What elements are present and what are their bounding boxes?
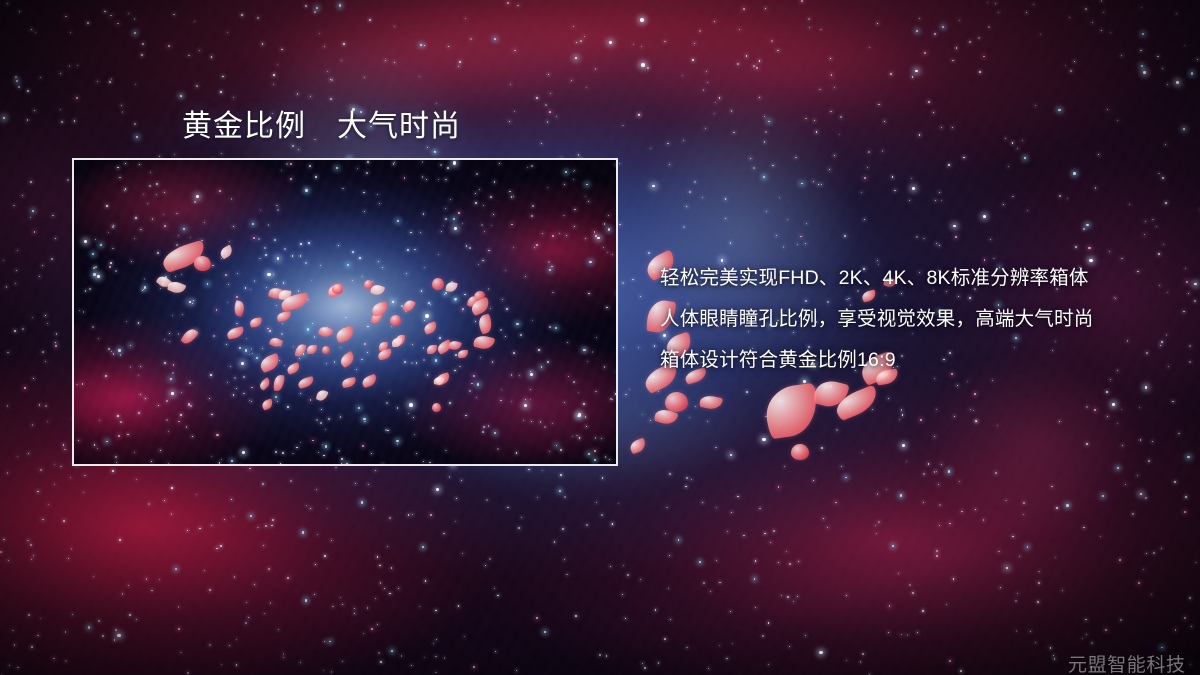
galaxy-image-stars: [74, 160, 616, 464]
body-line-3: 箱体设计符合黄金比例16:9: [660, 340, 1180, 381]
body-line-1: 轻松完美实现FHD、2K、4K、8K标准分辨率箱体: [660, 258, 1180, 299]
presentation-slide: 黄金比例 大气时尚 轻松完美实现FHD、2K、4K、8K标准分辨率箱体 人体眼睛…: [0, 0, 1200, 675]
body-line-2: 人体眼睛瞳孔比例，享受视觉效果，高端大气时尚: [660, 299, 1180, 340]
page-title: 黄金比例 大气时尚: [182, 101, 461, 145]
watermark-label: 元盟智能科技: [1068, 650, 1186, 675]
image-frame: [72, 158, 618, 466]
body-text-block: 轻松完美实现FHD、2K、4K、8K标准分辨率箱体 人体眼睛瞳孔比例，享受视觉效…: [660, 258, 1180, 381]
